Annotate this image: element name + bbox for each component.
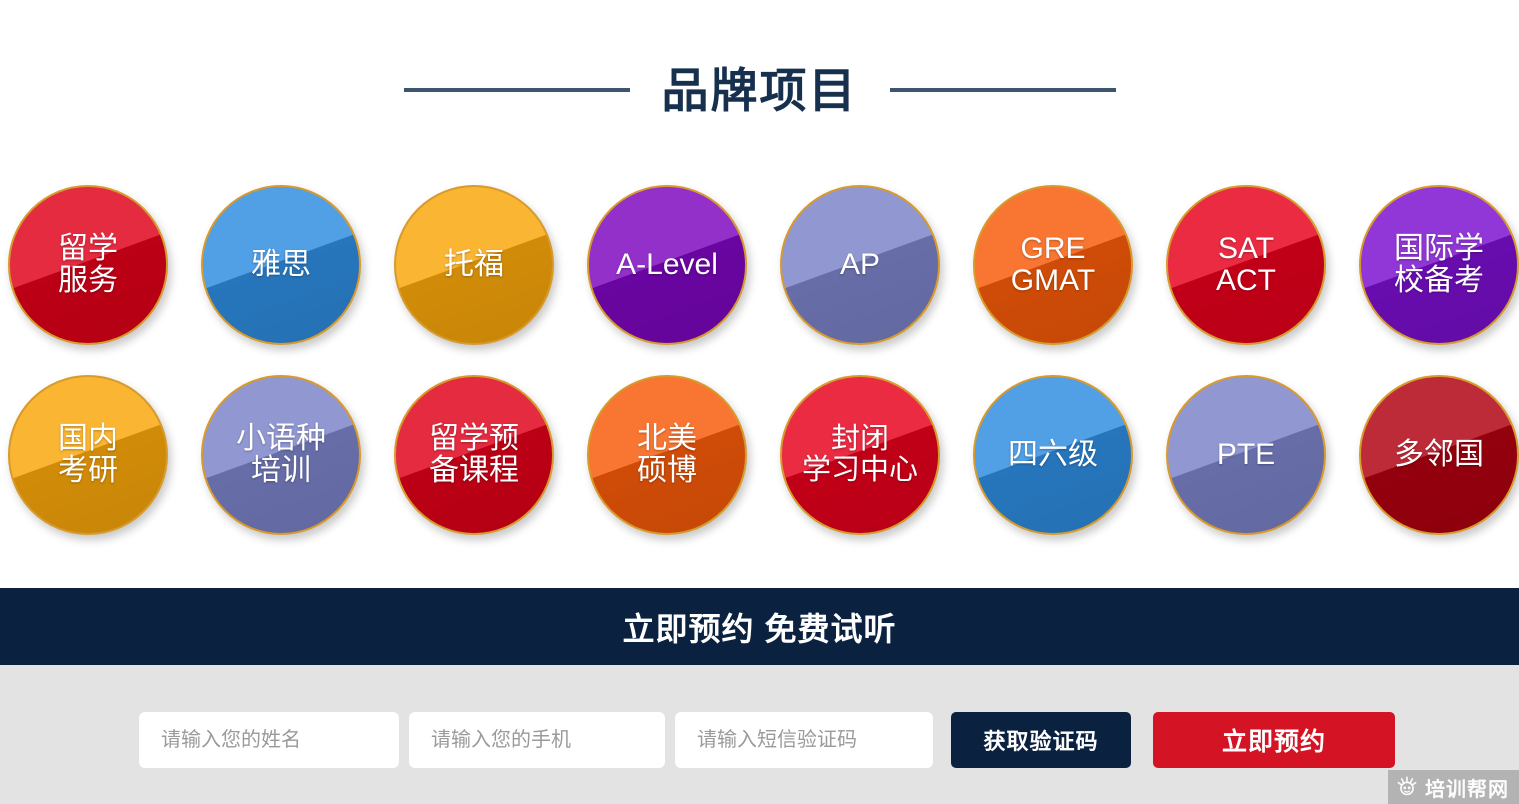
program-intl-school-prep[interactable]: 国际学校备考 (1359, 185, 1519, 345)
program-ielts[interactable]: 雅思 (201, 185, 361, 345)
program-cell: 托福 (394, 170, 587, 360)
program-label: 国内考研 (58, 423, 118, 488)
program-cell: A-Level (587, 170, 780, 360)
program-label: 多邻国 (1394, 439, 1484, 471)
program-label: AP (840, 249, 880, 281)
page-title: 品牌项目 (662, 67, 858, 114)
program-liuxue-fuwu[interactable]: 留学服务 (8, 185, 168, 345)
program-liuxue-yubei[interactable]: 留学预备课程 (394, 375, 554, 535)
cta-banner: 立即预约 免费试听 (0, 588, 1519, 665)
program-cell: GREGMAT (973, 170, 1166, 360)
program-label: 雅思 (251, 249, 311, 281)
program-a-level[interactable]: A-Level (587, 185, 747, 345)
program-cell: AP (780, 170, 973, 360)
program-grid-row-1: 留学服务雅思托福A-LevelAPGREGMATSATACT国际学校备考 (0, 170, 1519, 360)
name-input[interactable] (139, 712, 399, 768)
program-cell: 小语种培训 (201, 360, 394, 550)
program-grid-row-2: 国内考研小语种培训留学预备课程北美硕博封闭学习中心四六级PTE多邻国 (0, 360, 1519, 550)
program-label: 四六级 (1008, 439, 1098, 471)
sun-face-icon (1396, 776, 1418, 798)
program-cell: 多邻国 (1359, 360, 1519, 550)
cta-banner-text: 立即预约 免费试听 (623, 604, 897, 650)
submit-booking-button[interactable]: 立即预约 (1153, 712, 1395, 768)
program-cell: PTE (1166, 360, 1359, 550)
program-label: 托福 (444, 249, 504, 281)
program-gre-gmat[interactable]: GREGMAT (973, 185, 1133, 345)
program-cell: 四六级 (973, 360, 1166, 550)
page-title-block: 品牌项目 (0, 0, 1519, 170)
sms-code-input[interactable] (675, 712, 933, 768)
program-guonei-kaoyan[interactable]: 国内考研 (8, 375, 168, 535)
booking-form: 获取验证码 立即预约 (0, 665, 1519, 804)
program-label: 国际学校备考 (1394, 233, 1484, 298)
program-label: PTE (1217, 439, 1275, 471)
watermark-text: 培训帮网 (1425, 773, 1509, 802)
program-sat-act[interactable]: SATACT (1166, 185, 1326, 345)
program-label: 留学预备课程 (429, 423, 519, 488)
phone-input[interactable] (409, 712, 665, 768)
program-cell: 国内考研 (8, 360, 201, 550)
program-grid: 留学服务雅思托福A-LevelAPGREGMATSATACT国际学校备考 国内考… (0, 170, 1519, 550)
program-label: SATACT (1216, 233, 1276, 298)
program-ap[interactable]: AP (780, 185, 940, 345)
title-rule-left (404, 88, 630, 92)
program-cell: 留学预备课程 (394, 360, 587, 550)
program-cell: SATACT (1166, 170, 1359, 360)
program-xiaoyuzhong[interactable]: 小语种培训 (201, 375, 361, 535)
site-watermark: 培训帮网 (1388, 770, 1519, 804)
program-cell: 北美硕博 (587, 360, 780, 550)
program-label: 封闭学习中心 (802, 424, 918, 487)
program-cell: 雅思 (201, 170, 394, 360)
program-label: A-Level (616, 249, 718, 281)
program-pte[interactable]: PTE (1166, 375, 1326, 535)
program-cell: 留学服务 (8, 170, 201, 360)
program-label: 小语种培训 (236, 423, 326, 488)
program-cell: 国际学校备考 (1359, 170, 1519, 360)
title-rule-right (890, 88, 1116, 92)
program-cell: 封闭学习中心 (780, 360, 973, 550)
program-label: 北美硕博 (637, 423, 697, 488)
program-duolingo[interactable]: 多邻国 (1359, 375, 1519, 535)
program-label: 留学服务 (58, 233, 118, 298)
program-toefl[interactable]: 托福 (394, 185, 554, 345)
program-label: GREGMAT (1011, 233, 1095, 298)
program-cet-4-6[interactable]: 四六级 (973, 375, 1133, 535)
get-code-button[interactable]: 获取验证码 (951, 712, 1131, 768)
program-fengbi-center[interactable]: 封闭学习中心 (780, 375, 940, 535)
program-beimei-shuobo[interactable]: 北美硕博 (587, 375, 747, 535)
